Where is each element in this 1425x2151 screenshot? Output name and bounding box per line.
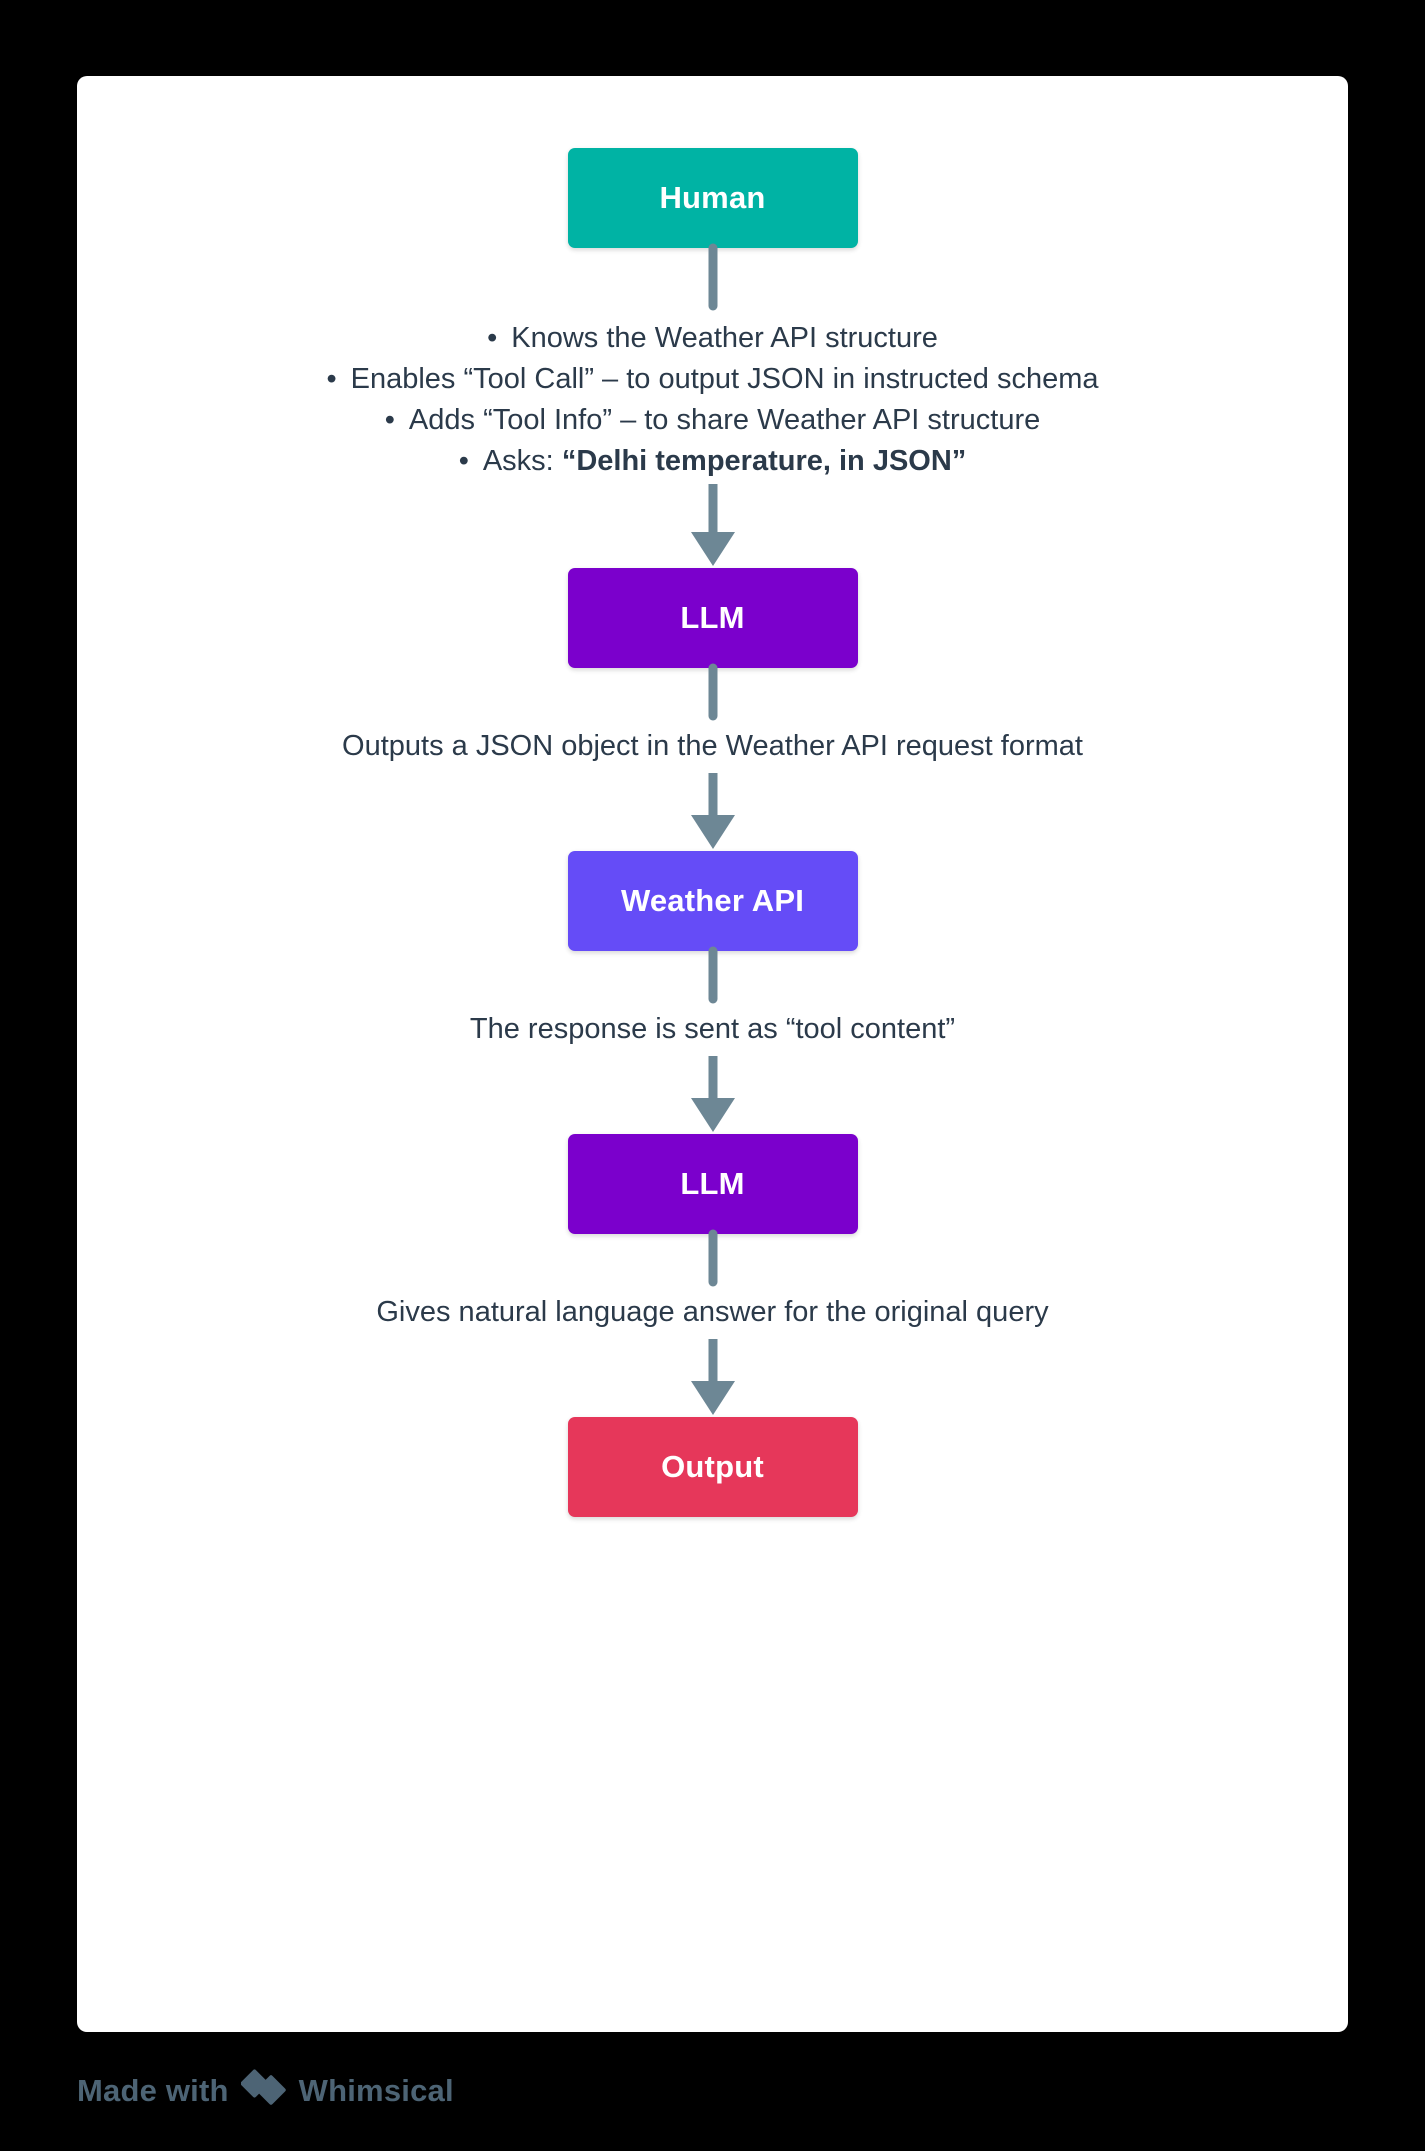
watermark-made-with-label: Made with (77, 2073, 229, 2109)
connector-llm-to-output-line (563, 1234, 863, 1417)
diagram-card: Human •Knows the Weather API structure •… (77, 76, 1348, 2032)
connector-human-to-llm-line (563, 248, 863, 568)
whimsical-watermark[interactable]: Made with Whimsical (77, 2068, 454, 2113)
node-llm-second[interactable]: LLM (568, 1134, 858, 1234)
connector-human-to-llm: •Knows the Weather API structure •Enable… (563, 248, 863, 568)
node-weather-api[interactable]: Weather API (568, 851, 858, 951)
node-human[interactable]: Human (568, 148, 858, 248)
screenshot-canvas: Human •Knows the Weather API structure •… (0, 0, 1425, 2151)
node-weather-api-label: Weather API (621, 883, 804, 919)
node-llm-first-label: LLM (680, 600, 744, 636)
node-human-label: Human (659, 180, 765, 216)
node-output-label: Output (661, 1449, 764, 1485)
connector-weather-api-to-llm: The response is sent as “tool content” (563, 951, 863, 1134)
bullet-marker: • (385, 404, 395, 436)
node-output[interactable]: Output (568, 1417, 858, 1517)
whimsical-diamond-logo-icon (241, 2068, 287, 2113)
connector-llm-to-weather-api: Outputs a JSON object in the Weather API… (563, 668, 863, 851)
node-llm-first[interactable]: LLM (568, 568, 858, 668)
bullet-marker: • (459, 445, 469, 477)
node-llm-second-label: LLM (680, 1166, 744, 1202)
connector-llm-to-weather-api-line (563, 668, 863, 851)
watermark-brand-label: Whimsical (299, 2073, 454, 2109)
connector-llm-to-output: Gives natural language answer for the or… (563, 1234, 863, 1417)
bullet-marker: • (326, 363, 336, 395)
bullet-text-prefix: Asks: (483, 445, 562, 477)
bullet-marker: • (487, 322, 497, 354)
flowchart: Human •Knows the Weather API structure •… (77, 76, 1348, 2032)
connector-weather-api-to-llm-line (563, 951, 863, 1134)
